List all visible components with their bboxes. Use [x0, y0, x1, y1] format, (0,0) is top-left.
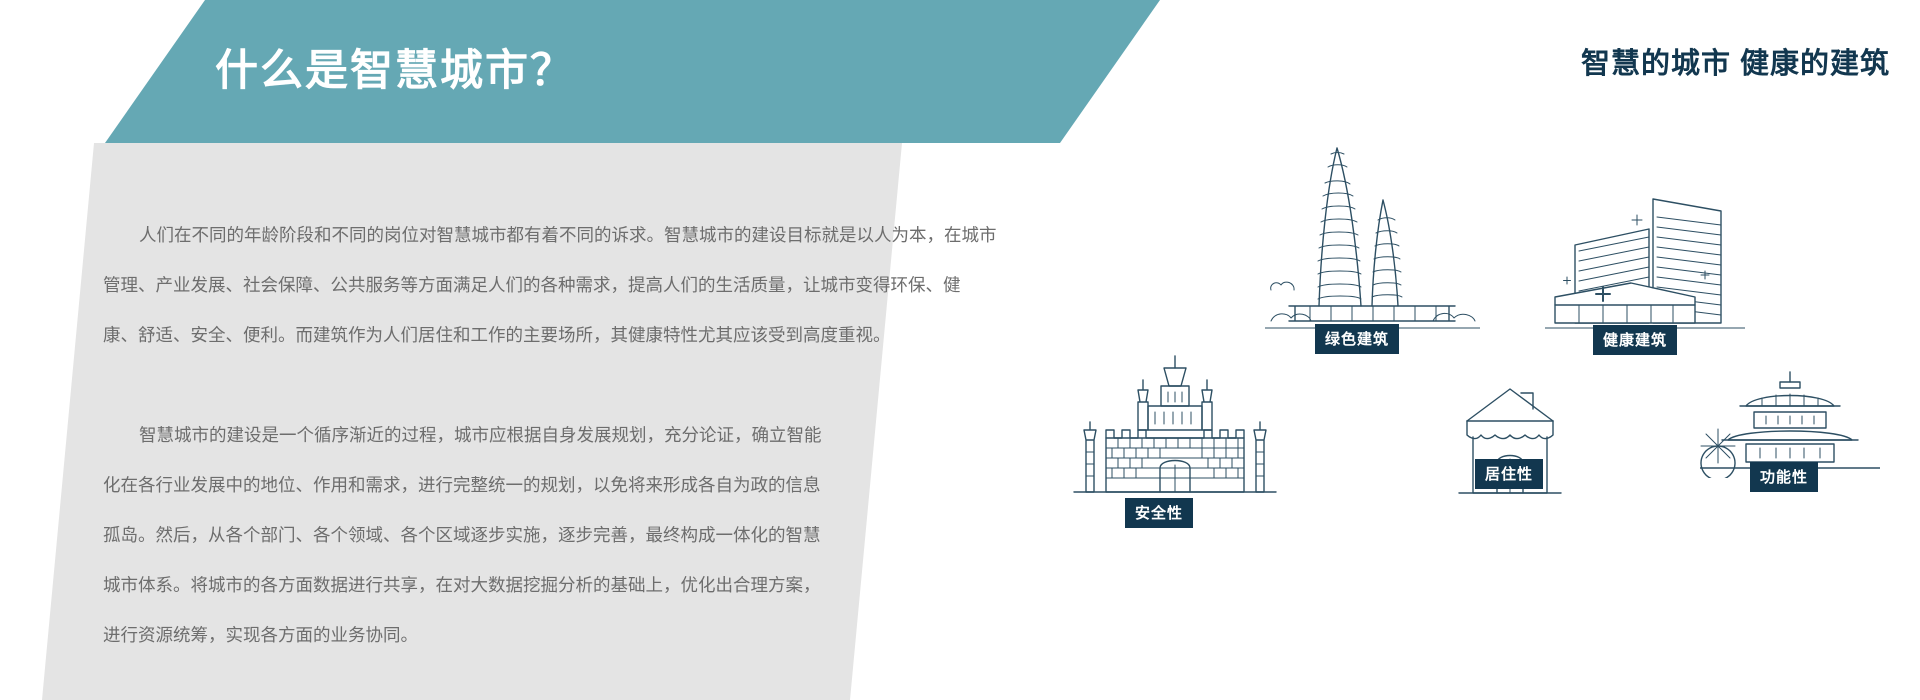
paragraph-2-line-5: 进行资源统筹，实现各方面的业务协同。 — [103, 610, 822, 660]
twin-towers-icon — [1265, 138, 1480, 333]
illustration-safety: 安全性 — [1060, 352, 1290, 502]
badge-green-building: 绿色建筑 — [1315, 324, 1399, 354]
illustration-healthy-building: 健康建筑 — [1545, 185, 1745, 335]
paragraph-2-line-1: 智慧城市的建设是一个循序渐近的过程，城市应根据自身发展规划，充分论证，确立智能 — [103, 410, 822, 460]
paragraph-2: 智慧城市的建设是一个循序渐近的过程，城市应根据自身发展规划，充分论证，确立智能 … — [103, 410, 822, 660]
badge-healthy-building: 健康建筑 — [1593, 325, 1677, 355]
paragraph-2-line-2: 化在各行业发展中的地位、作用和需求，进行完整统一的规划，以免将来形成各自为政的信… — [103, 460, 822, 510]
badge-livability: 居住性 — [1475, 459, 1543, 489]
paragraph-1: 人们在不同的年龄阶段和不同的岗位对智慧城市都有着不同的诉求。智慧城市的建设目标就… — [103, 210, 997, 360]
hospital-complex-icon — [1545, 185, 1745, 335]
badge-functionality: 功能性 — [1750, 462, 1818, 492]
paragraph-2-line-4: 城市体系。将城市的各方面数据进行共享，在对大数据挖掘分析的基础上，优化出合理方案… — [103, 560, 822, 610]
illustration-green-building: 绿色建筑 — [1265, 138, 1480, 333]
illustration-livability: 居住性 — [1455, 375, 1565, 500]
slide-canvas: 什么是智慧城市？ 智慧的城市 健康的建筑 人们在不同的年龄阶段和不同的岗位对智慧… — [0, 0, 1920, 700]
page-title: 什么是智慧城市？ — [215, 36, 575, 98]
illustration-functionality: 功能性 — [1700, 368, 1880, 478]
paragraph-1-line-1: 人们在不同的年龄阶段和不同的岗位对智慧城市都有着不同的诉求。智慧城市的建设目标就… — [103, 210, 997, 260]
badge-safety: 安全性 — [1125, 498, 1193, 528]
paragraph-1-line-3: 康、舒适、安全、便利。而建筑作为人们居住和工作的主要场所，其健康特性尤其应该受到… — [103, 310, 997, 360]
paragraph-2-line-3: 孤岛。然后，从各个部门、各个领域、各个区域逐步实施，逐步完善，最终构成一体化的智… — [103, 510, 822, 560]
paragraph-1-line-2: 管理、产业发展、社会保障、公共服务等方面满足人们的各种需求，提高人们的生活质量，… — [103, 260, 997, 310]
brand-tagline: 智慧的城市 健康的建筑 — [1581, 40, 1890, 82]
castle-icon — [1060, 352, 1290, 502]
